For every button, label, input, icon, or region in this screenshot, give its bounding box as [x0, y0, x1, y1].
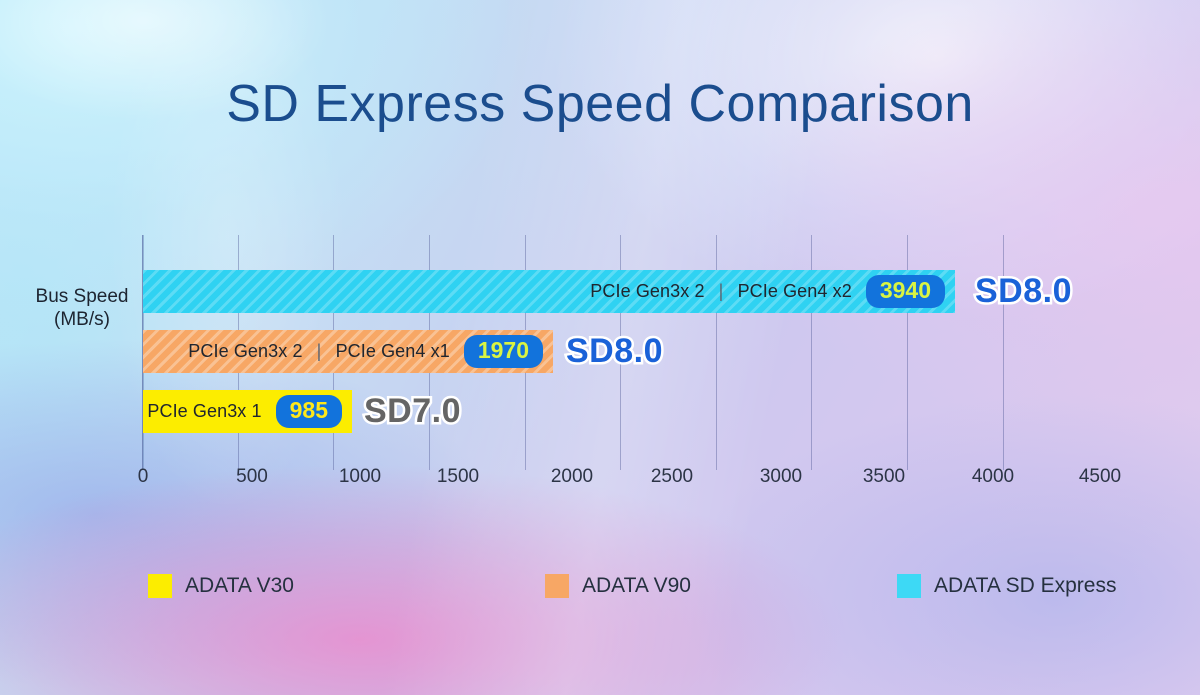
version-tag-sd-express: SD8.0: [975, 272, 1072, 311]
bar-label-v90: PCIe Gen3x 2 | PCIe Gen4 x1: [188, 341, 450, 362]
bar-label-separator-sd-express: |: [719, 281, 724, 302]
x-tick-label-7: 3500: [863, 466, 905, 488]
y-axis-label-line2: (MB/s): [26, 308, 138, 331]
legend-label-sd-express: ADATA SD Express: [934, 574, 1116, 598]
bar-value-pill-v90: 1970: [464, 335, 543, 367]
legend-item-adata-v90: ADATA V90: [545, 574, 691, 598]
legend-swatch-icon-v90: [545, 574, 569, 598]
version-tag-v90: SD8.0: [566, 332, 663, 371]
bar-value-pill-sd-express: 3940: [866, 275, 945, 307]
bar-label-right-v90: PCIe Gen4 x1: [336, 341, 450, 361]
bar-label-left-v90: PCIe Gen3x 2: [188, 341, 302, 361]
x-tick-label-0: 0: [138, 466, 149, 488]
x-tick-label-5: 2500: [651, 466, 693, 488]
bar-label-left-sd-express: PCIe Gen3x 2: [590, 281, 704, 301]
version-tag-v30: SD7.0: [364, 392, 461, 431]
legend-swatch-icon-sd-express: [897, 574, 921, 598]
bar-adata-v30: PCIe Gen3x 1 985: [143, 390, 352, 433]
legend-swatch-icon-v30: [148, 574, 172, 598]
bar-label-sd-express: PCIe Gen3x 2 | PCIe Gen4 x2: [590, 281, 852, 302]
bar-label-separator-v90: |: [317, 341, 322, 362]
y-axis-label: Bus Speed (MB/s): [26, 285, 138, 331]
infographic-canvas: SD Express Speed Comparison 0 500 1000 1…: [0, 0, 1200, 695]
legend-label-v30: ADATA V30: [185, 574, 294, 598]
legend-label-v90: ADATA V90: [582, 574, 691, 598]
legend-item-adata-v30: ADATA V30: [148, 574, 294, 598]
bar-value-pill-v30: 985: [276, 395, 342, 427]
x-tick-label-3: 1500: [437, 466, 479, 488]
legend-item-adata-sd-express: ADATA SD Express: [897, 574, 1116, 598]
gridline-4500: [1003, 235, 1004, 470]
bar-label-v30: PCIe Gen3x 1: [147, 401, 261, 422]
bar-adata-v90: PCIe Gen3x 2 | PCIe Gen4 x1 1970: [143, 330, 553, 373]
x-tick-label-9: 4500: [1079, 466, 1121, 488]
y-axis-label-line1: Bus Speed: [26, 285, 138, 308]
x-tick-label-2: 1000: [339, 466, 381, 488]
bar-label-left-v30: PCIe Gen3x 1: [147, 401, 261, 421]
bar-adata-sd-express: PCIe Gen3x 2 | PCIe Gen4 x2 3940: [143, 270, 955, 313]
bar-label-right-sd-express: PCIe Gen4 x2: [738, 281, 852, 301]
x-tick-label-8: 4000: [972, 466, 1014, 488]
x-tick-label-6: 3000: [760, 466, 802, 488]
x-tick-label-4: 2000: [551, 466, 593, 488]
x-tick-label-1: 500: [236, 466, 268, 488]
